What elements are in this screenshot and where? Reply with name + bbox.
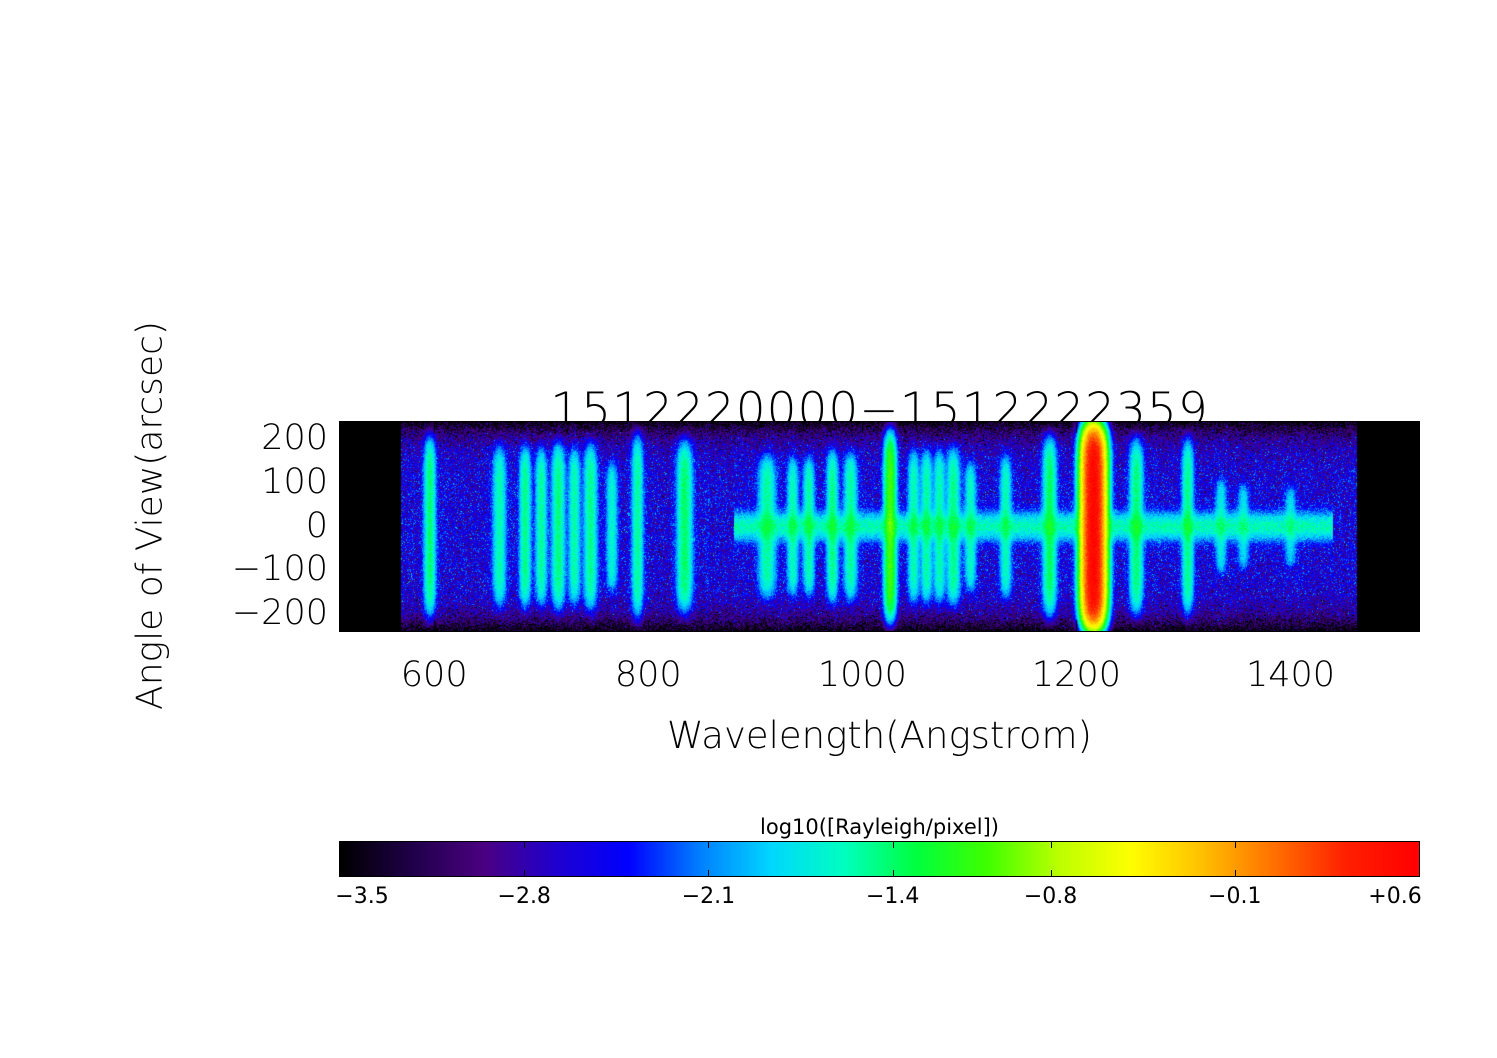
colorbar-tick-label: −0.1: [1208, 884, 1261, 909]
y-tick-label: −200: [232, 596, 328, 631]
x-tick-label: 600: [401, 655, 468, 695]
x-tick-label: 1000: [818, 655, 907, 695]
x-tick-label: 1400: [1246, 655, 1335, 695]
plot-stage: 1512220000−1512222359 exp time 0267(min)…: [0, 0, 1497, 1058]
spectrogram-image: [340, 422, 1419, 631]
x-tick-label: 800: [615, 655, 682, 695]
x-tick-label-group: 600800100012001400: [339, 655, 1420, 700]
colorbar-tick-label: −2.8: [498, 884, 551, 909]
spectrogram-panel: [339, 421, 1420, 632]
colorbar-gradient: [340, 842, 1419, 876]
colorbar-title: log10([Rayleigh/pixel]): [339, 815, 1420, 839]
x-tick-label: 1200: [1032, 655, 1121, 695]
colorbar-tick-label: −3.5: [335, 884, 388, 909]
y-tick-label: 100: [261, 465, 328, 500]
y-tick-label-group: 2001000−100−200: [160, 421, 328, 632]
y-tick-label: 200: [261, 421, 328, 456]
colorbar: [339, 841, 1420, 877]
colorbar-tick-label: +0.6: [1368, 884, 1421, 909]
colorbar-tick-label: −0.8: [1024, 884, 1077, 909]
colorbar-tick-label: −2.1: [682, 884, 735, 909]
x-axis-label: Wavelength(Angstrom): [339, 714, 1420, 757]
colorbar-label-group: −3.5−2.8−2.1−1.4−0.8−0.1+0.6: [339, 884, 1420, 918]
y-tick-label: −100: [232, 552, 328, 587]
y-tick-label: 0: [306, 509, 328, 544]
colorbar-tick-label: −1.4: [866, 884, 919, 909]
